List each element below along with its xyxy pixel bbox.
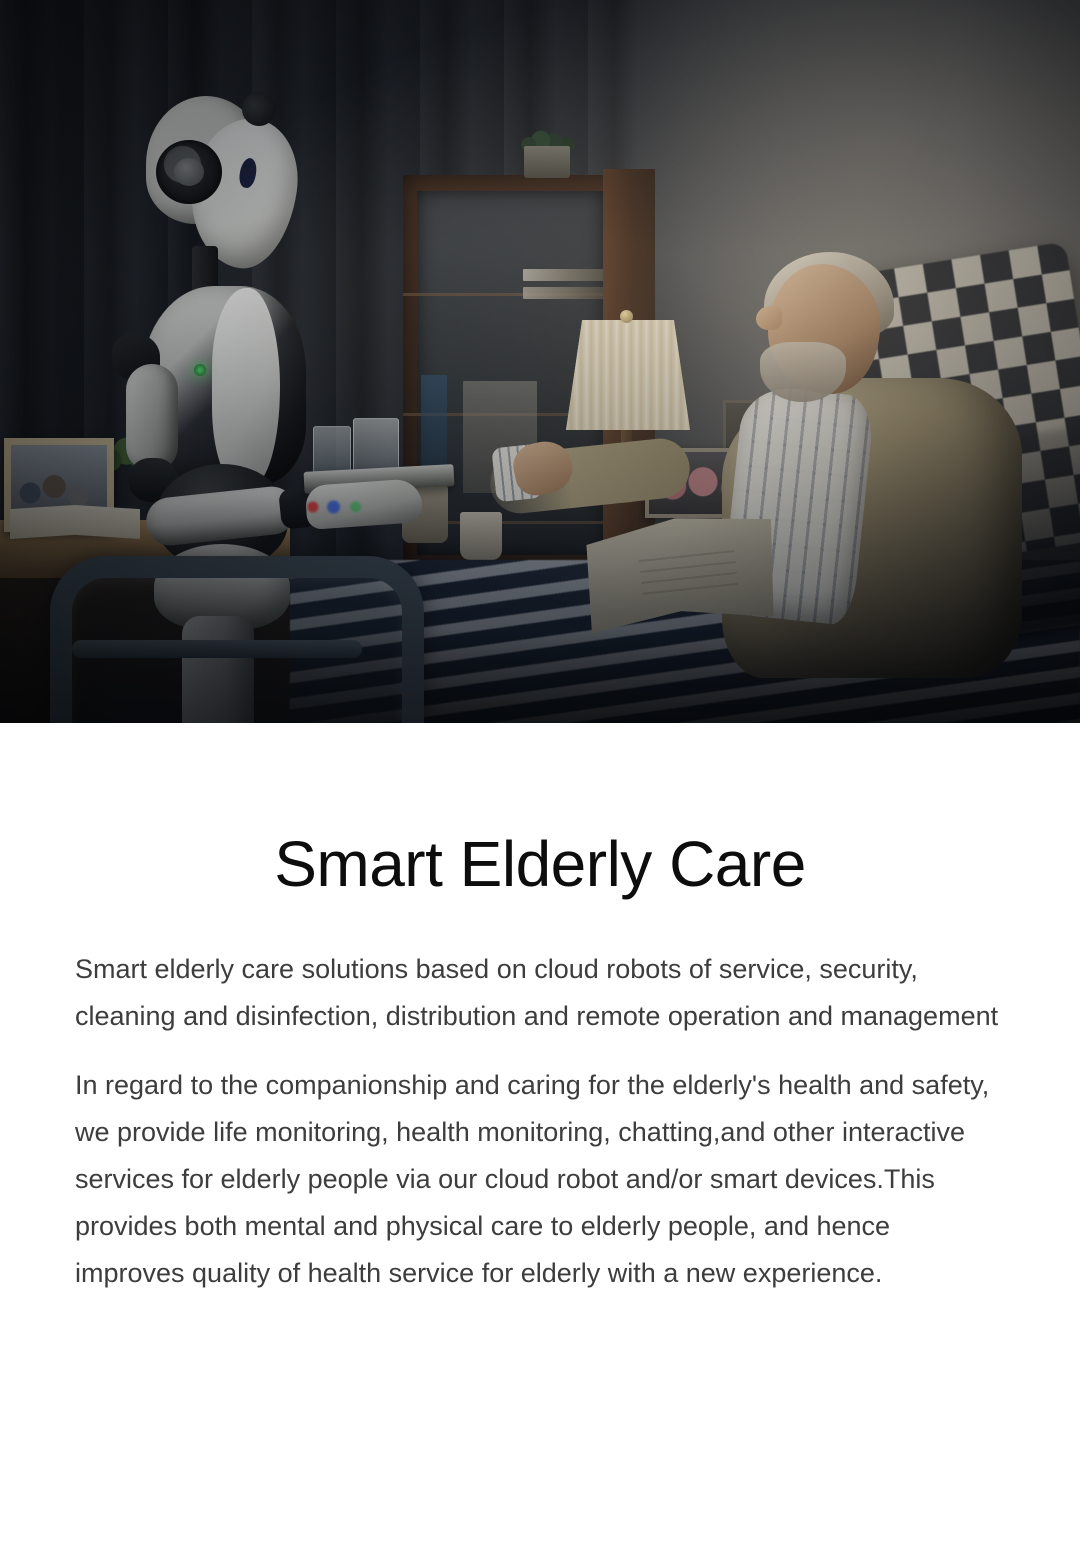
shelf-plant-pot — [524, 146, 570, 178]
paragraph-details: In regard to the companionship and carin… — [75, 1062, 1005, 1297]
lamp-finial — [620, 310, 633, 323]
robot-upper-arm — [126, 364, 178, 472]
drinking-glass-left — [313, 426, 351, 476]
page-title: Smart Elderly Care — [0, 723, 1080, 898]
bed-side-rail-bar — [72, 640, 362, 658]
mug-small — [460, 512, 502, 560]
robot-ear-lens — [174, 158, 204, 186]
elderly-man — [700, 250, 1080, 723]
body-copy: Smart elderly care solutions based on cl… — [75, 898, 1005, 1297]
book-row — [523, 269, 605, 281]
hero-image — [0, 0, 1080, 723]
robot-shoulder-panel — [212, 288, 280, 486]
content-section: Smart Elderly Care Smart elderly care so… — [0, 723, 1080, 1297]
robot-status-leds — [304, 500, 378, 514]
nose — [756, 306, 782, 330]
robot-chest-led — [194, 364, 206, 376]
book-row — [523, 287, 605, 299]
paragraph-summary: Smart elderly care solutions based on cl… — [75, 946, 1005, 1040]
hero-scene — [0, 0, 1080, 723]
lamp-shade — [566, 320, 690, 430]
